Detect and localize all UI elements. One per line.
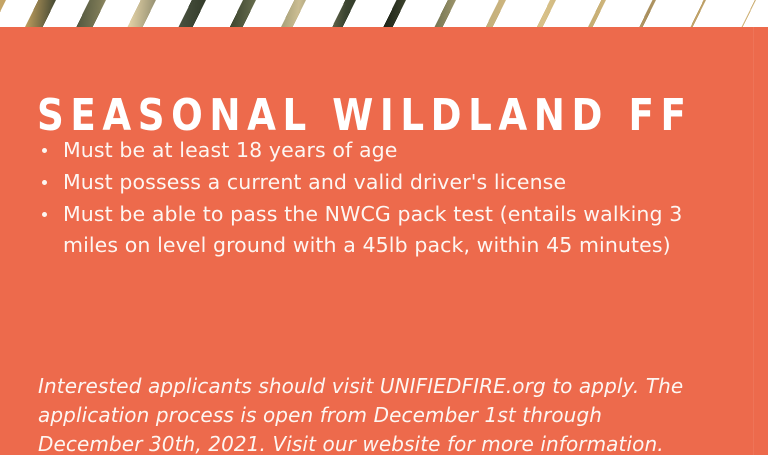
list-item: Must be able to pass the NWCG pack test … <box>40 199 720 261</box>
content-panel: SEASONAL WILDLAND FF Must be at least 18… <box>0 27 768 455</box>
stripe-white-mask <box>0 0 768 30</box>
seasonal-wildland-ff-flyer: SEASONAL WILDLAND FF Must be at least 18… <box>0 0 768 455</box>
requirement-text: Must be able to pass the NWCG pack test … <box>63 202 682 257</box>
requirements-list: Must be at least 18 years of age Must po… <box>40 135 720 262</box>
application-instructions: Interested applicants should visit UNIFI… <box>38 372 708 455</box>
requirement-text: Must possess a current and valid driver'… <box>63 170 566 194</box>
diagonal-stripe-photo-band <box>0 0 768 30</box>
bullet-dot-icon <box>42 148 47 153</box>
bullet-dot-icon <box>42 212 47 217</box>
list-item: Must possess a current and valid driver'… <box>40 167 720 198</box>
page-title: SEASONAL WILDLAND FF <box>37 94 692 138</box>
bullet-dot-icon <box>42 180 47 185</box>
panel-edge-seam <box>753 27 754 455</box>
list-item: Must be at least 18 years of age <box>40 135 720 166</box>
requirement-text: Must be at least 18 years of age <box>63 138 397 162</box>
